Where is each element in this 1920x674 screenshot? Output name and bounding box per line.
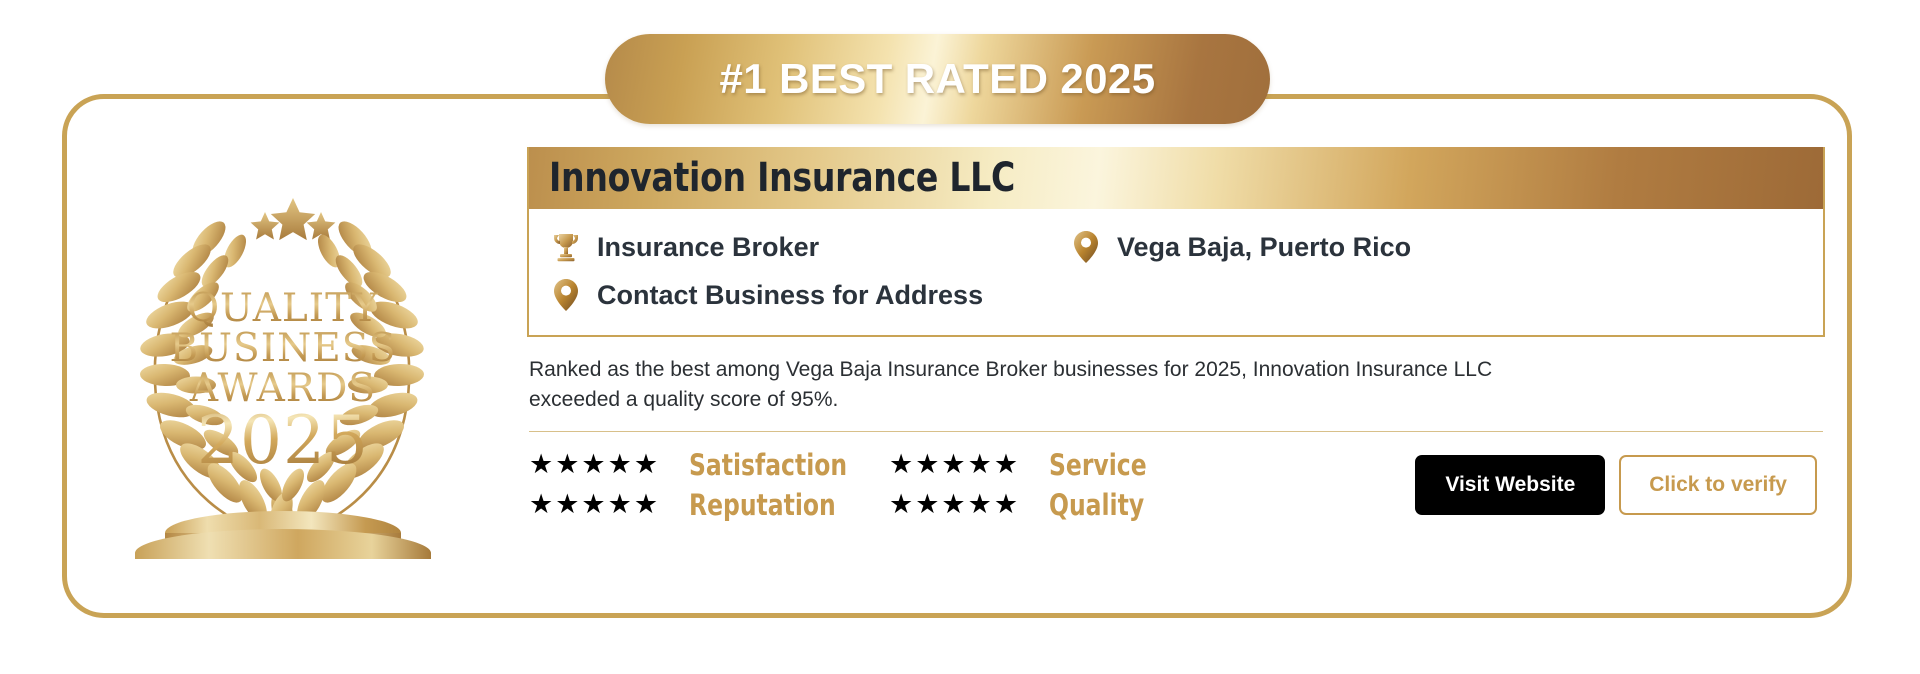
business-location-label: Vega Baja, Puerto Rico bbox=[1117, 232, 1411, 263]
visit-website-button[interactable]: Visit Website bbox=[1415, 455, 1605, 515]
seal-pedestal bbox=[135, 511, 431, 559]
business-meta-list: Insurance Broker bbox=[529, 209, 1823, 335]
business-content: Innovation Insurance LLC bbox=[527, 147, 1825, 522]
rating-label-satisfaction: Satisfaction bbox=[689, 448, 869, 482]
rating-stars-quality: ★★★★★ bbox=[889, 488, 1049, 520]
rating-label-service: Service bbox=[1049, 448, 1229, 482]
best-rated-ribbon: #1 BEST RATED 2025 bbox=[605, 34, 1270, 124]
seal-stars bbox=[251, 198, 336, 240]
rating-stars-satisfaction: ★★★★★ bbox=[529, 448, 689, 480]
business-name: Innovation Insurance LLC bbox=[549, 155, 1015, 201]
business-location: Vega Baja, Puerto Rico bbox=[1069, 230, 1411, 264]
divider bbox=[529, 431, 1823, 432]
award-badge-card: QUALITY BUSINESS AWARDS 2025 Innovation … bbox=[62, 94, 1852, 618]
business-address: Contact Business for Address bbox=[549, 278, 1069, 312]
action-buttons: Visit Website Click to verify bbox=[1415, 455, 1825, 515]
business-info-box: Innovation Insurance LLC bbox=[527, 147, 1825, 337]
rating-label-reputation: Reputation bbox=[689, 488, 869, 522]
rating-label-quality: Quality bbox=[1049, 488, 1229, 522]
footer-row: ★★★★★ Satisfaction ★★★★★ Service ★★★★★ R… bbox=[527, 448, 1825, 522]
seal-line-2: BUSINESS bbox=[170, 326, 397, 371]
map-pin-icon bbox=[1069, 230, 1103, 264]
award-description: Ranked as the best among Vega Baja Insur… bbox=[529, 355, 1559, 415]
seal-year: 2025 bbox=[197, 402, 369, 479]
best-rated-ribbon-label: #1 BEST RATED 2025 bbox=[720, 55, 1156, 103]
business-category-label: Insurance Broker bbox=[597, 232, 819, 263]
ratings-grid: ★★★★★ Satisfaction ★★★★★ Service ★★★★★ R… bbox=[529, 448, 1249, 522]
rating-stars-service: ★★★★★ bbox=[889, 448, 1049, 480]
map-pin-icon bbox=[549, 278, 583, 312]
rating-stars-reputation: ★★★★★ bbox=[529, 488, 689, 520]
quality-business-awards-seal: QUALITY BUSINESS AWARDS 2025 bbox=[97, 169, 467, 559]
seal-graphic: QUALITY BUSINESS AWARDS 2025 bbox=[97, 169, 467, 559]
seal-line-1: QUALITY bbox=[187, 286, 379, 331]
meta-row: Contact Business for Address bbox=[549, 271, 1823, 319]
business-category: Insurance Broker bbox=[549, 231, 1069, 263]
business-address-label: Contact Business for Address bbox=[597, 280, 983, 311]
meta-row: Insurance Broker bbox=[549, 223, 1823, 271]
business-title-bar: Innovation Insurance LLC bbox=[529, 147, 1823, 209]
click-to-verify-button[interactable]: Click to verify bbox=[1619, 455, 1817, 515]
trophy-icon bbox=[549, 231, 583, 263]
